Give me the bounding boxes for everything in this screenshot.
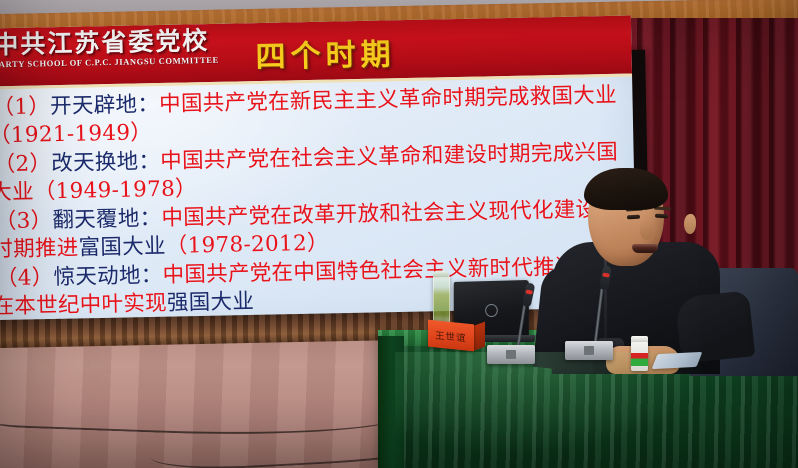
microphone-indicator-icon bbox=[525, 289, 533, 294]
bullet-key-phrase: 开天辟地： bbox=[50, 92, 159, 119]
bullet-index: （3） bbox=[0, 208, 53, 234]
microphone-base[interactable] bbox=[487, 345, 535, 364]
eye-right bbox=[655, 214, 668, 219]
school-brand: 中共江苏省委党校 PARTY SCHOOL OF C.P.C. JIANGSU … bbox=[0, 28, 219, 69]
water-bottle bbox=[631, 341, 648, 371]
name-placard: 王世谊 bbox=[428, 322, 486, 352]
slide-title: 四个时期 bbox=[255, 29, 396, 76]
microphone-button[interactable] bbox=[506, 350, 516, 359]
bullet-index: （1） bbox=[0, 94, 50, 120]
speaker-person bbox=[560, 170, 760, 370]
school-name-en: PARTY SCHOOL OF C.P.C. JIANGSU COMMITTEE bbox=[0, 56, 219, 69]
bottle-label bbox=[631, 353, 648, 366]
table-cloth-fold bbox=[378, 336, 404, 468]
lecture-photo: 中共江苏省委党校 PARTY SCHOOL OF C.P.C. JIANGSU … bbox=[0, 0, 798, 468]
slide-bullet: （3）翻天覆地：中国共产党在改革开放和社会主义现代化建设新时期推进富国大业（19… bbox=[0, 196, 632, 264]
bullet-index: （4） bbox=[0, 265, 54, 291]
bullet-key-phrase-b: 强国大业 bbox=[167, 289, 255, 316]
name-placard-text: 王世谊 bbox=[435, 327, 467, 344]
bullet-key-phrase: 翻天覆地： bbox=[52, 206, 161, 233]
bullet-key-phrase: 惊天动地： bbox=[53, 263, 162, 290]
eye-left bbox=[627, 215, 640, 220]
laptop-logo-icon bbox=[485, 304, 498, 317]
slide-bullet: （1）开天辟地：中国共产党在新民主主义革命时期完成救国大业（1921-1949） bbox=[0, 82, 629, 150]
hair bbox=[584, 168, 668, 210]
water-bottle-cap bbox=[631, 336, 648, 342]
name-placard-face: 王世谊 bbox=[428, 320, 474, 352]
slide-bullet: （2）改天换地：中国共产党在社会主义革命和建设时期完成兴国大业（1949-197… bbox=[0, 139, 630, 207]
bullet-index: （2） bbox=[0, 151, 52, 177]
school-name-cn: 中共江苏省委党校 bbox=[0, 28, 210, 57]
bullet-key-phrase: 改天换地： bbox=[51, 149, 160, 176]
mobile-phone[interactable] bbox=[652, 352, 703, 369]
mouth bbox=[632, 244, 658, 253]
ear bbox=[684, 214, 696, 234]
microphone-button[interactable] bbox=[584, 346, 594, 355]
microphone-base[interactable] bbox=[565, 341, 613, 360]
nose bbox=[640, 220, 653, 240]
bullet-key-phrase-b: 富国大业 bbox=[78, 233, 166, 260]
microphone-indicator-icon bbox=[602, 272, 610, 277]
bullet-text-b: （1978-2012） bbox=[166, 230, 329, 258]
thermos-cap bbox=[433, 271, 448, 277]
